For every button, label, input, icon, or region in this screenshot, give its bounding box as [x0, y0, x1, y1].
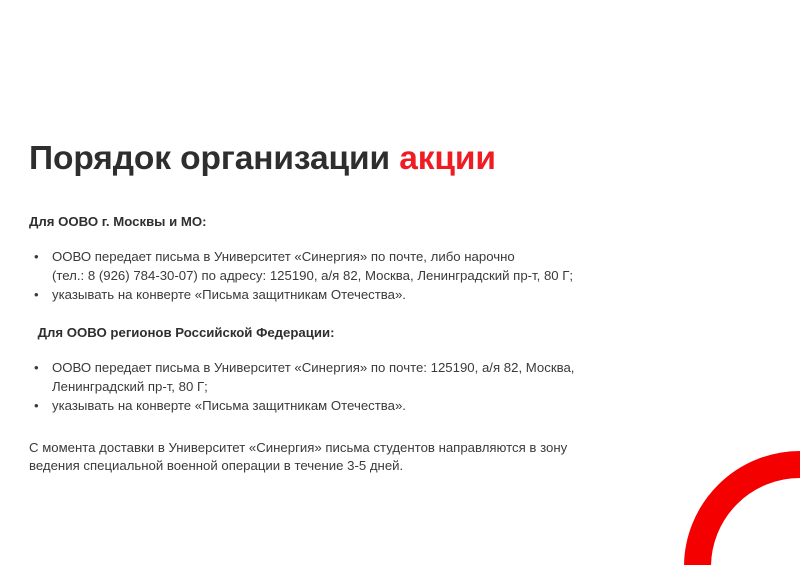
- list-item-text: ООВО передает письма в Университет «Сине…: [52, 248, 679, 285]
- slide-body: Для ООВО г. Москвы и МО: • ООВО передает…: [29, 212, 679, 476]
- list-item-text: указывать на конверте «Письма защитникам…: [52, 397, 679, 416]
- bullet-point-icon: •: [34, 397, 39, 416]
- list-item: • ООВО передает письма в Университет «Си…: [29, 359, 679, 396]
- bullet-list-moscow: • ООВО передает письма в Университет «Си…: [29, 248, 679, 304]
- list-item-text: ООВО передает письма в Университет «Сине…: [52, 359, 679, 396]
- list-item: • указывать на конверте «Письма защитник…: [29, 397, 679, 416]
- spacer: [29, 231, 679, 248]
- list-item-text: указывать на конверте «Письма защитникам…: [52, 286, 679, 305]
- bullet-point-icon: •: [34, 248, 39, 267]
- spacer: [29, 342, 679, 359]
- section-heading-moscow: Для ООВО г. Москвы и МО:: [29, 212, 679, 231]
- bullet-point-icon: •: [34, 359, 39, 378]
- red-ring-corner-decoration: [684, 451, 800, 565]
- closing-paragraph: С момента доставки в Университет «Синерг…: [29, 439, 669, 476]
- page-title-accent: акции: [399, 140, 496, 177]
- page-title-main: Порядок организации: [29, 140, 399, 177]
- page-title: Порядок организации акции: [29, 139, 496, 179]
- presentation-slide: Порядок организации акции Для ООВО г. Мо…: [0, 0, 800, 565]
- bullet-point-icon: •: [34, 286, 39, 305]
- list-item: • указывать на конверте «Письма защитник…: [29, 286, 679, 305]
- spacer: [29, 304, 679, 323]
- section-heading-regions: Для ООВО регионов Российской Федерации:: [29, 323, 679, 342]
- bullet-list-regions: • ООВО передает письма в Университет «Си…: [29, 359, 679, 415]
- spacer: [29, 416, 679, 439]
- list-item: • ООВО передает письма в Университет «Си…: [29, 248, 679, 285]
